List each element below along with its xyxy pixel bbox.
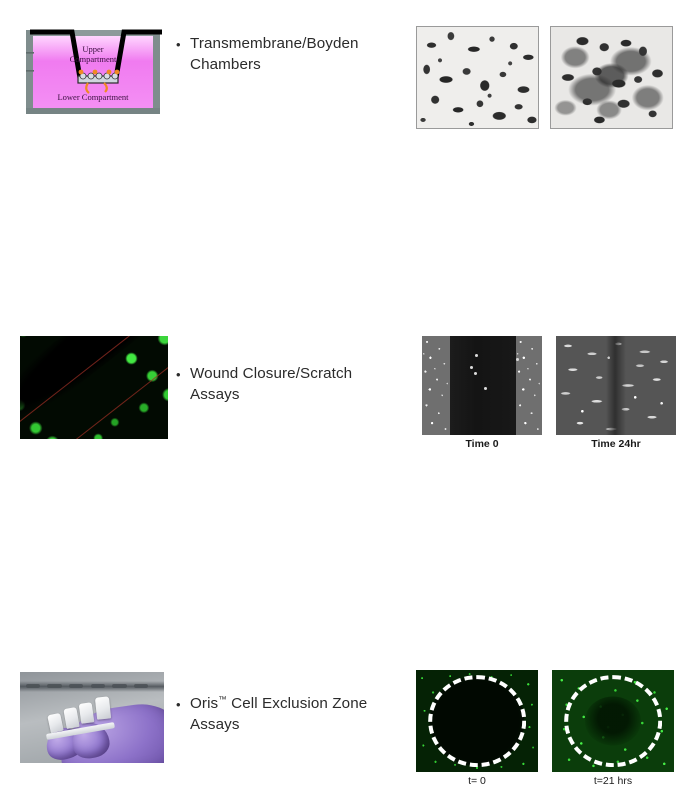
upper-compartment-label: Upper xyxy=(82,44,103,54)
exclusion-zone-outline-icon xyxy=(564,675,662,767)
caption-t0: t= 0 xyxy=(416,775,538,787)
row-wound-closure: • Wound Closure/Scratch Assays Time 0 Ti… xyxy=(0,160,700,320)
slide-canvas: Upper Compartment Lower Compartment • Tr… xyxy=(0,0,700,475)
upper-compartment-label-2: Compartment xyxy=(70,54,117,64)
row-oris-exclusion: • Oris™ Cell Exclusion Zone Assays t= 0 … xyxy=(0,320,700,475)
bullet-marker-icon: • xyxy=(176,34,181,55)
oris-stopper-device-photo xyxy=(20,672,164,763)
row-transmembrane: Upper Compartment Lower Compartment • Tr… xyxy=(0,0,700,160)
oris-panel-t21hrs xyxy=(552,670,674,772)
bullet-transmembrane-label: Transmembrane/Boyden Chambers xyxy=(176,33,391,75)
bullet-marker-icon: • xyxy=(176,694,181,715)
bullet-oris-exclusion-label: Oris™ Cell Exclusion Zone Assays xyxy=(176,693,391,735)
oris-brand-text: Oris™ Cell Exclusion Zone Assays xyxy=(190,695,367,733)
transmembrane-micrograph-sparse xyxy=(416,26,539,129)
exclusion-zone-outline-icon xyxy=(428,675,526,767)
bullet-oris-exclusion: • Oris™ Cell Exclusion Zone Assays xyxy=(176,693,391,735)
transwell-insert-diagram: Upper Compartment Lower Compartment xyxy=(20,22,166,120)
lower-compartment-label: Lower Compartment xyxy=(57,92,129,102)
oris-panel-t0 xyxy=(416,670,538,772)
caption-t21hrs: t=21 hrs xyxy=(552,775,674,787)
bullet-transmembrane: • Transmembrane/Boyden Chambers xyxy=(176,33,391,75)
transmembrane-micrograph-dense xyxy=(550,26,673,129)
